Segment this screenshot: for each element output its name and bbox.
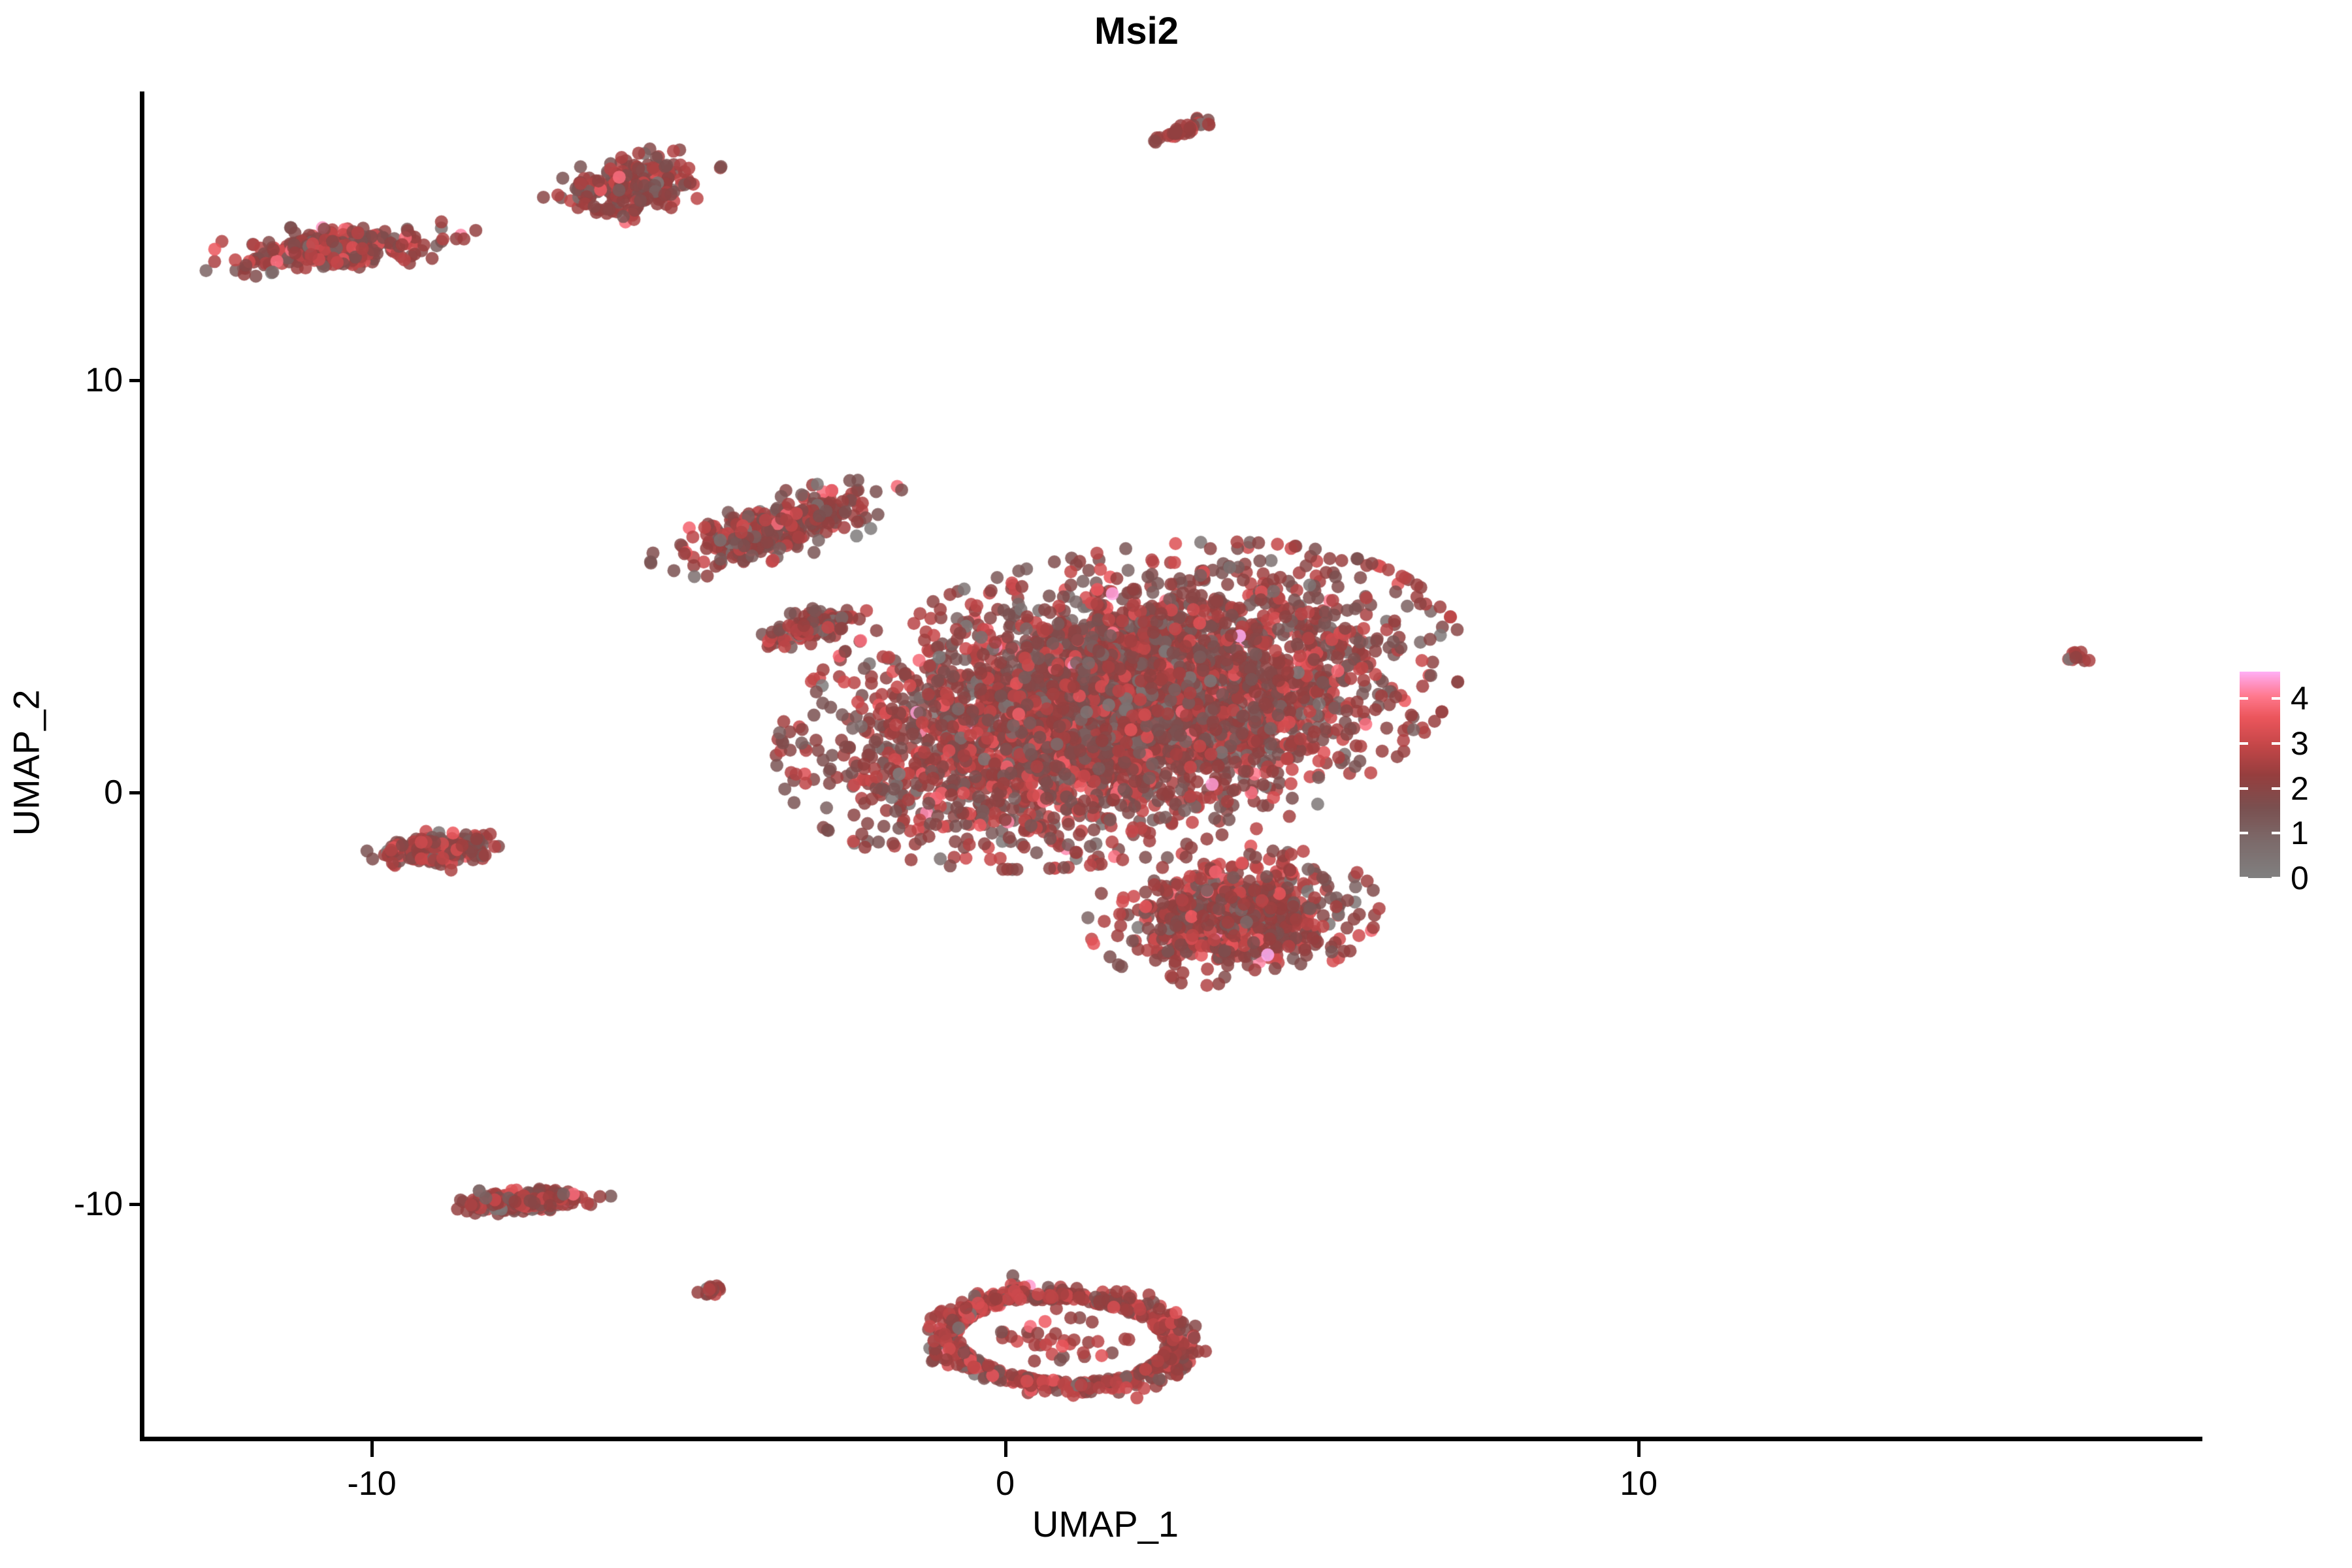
colorbar-tick-mark bbox=[2272, 787, 2280, 790]
x-tick-mark bbox=[1004, 1441, 1007, 1457]
y-tick-mark bbox=[129, 379, 144, 382]
x-tick-label: 10 bbox=[1567, 1464, 1710, 1503]
plot-root: Msi2 -10010 -10010 UMAP_1 UMAP_2 43210 bbox=[0, 0, 2352, 1568]
y-axis-title: UMAP_2 bbox=[5, 632, 48, 894]
colorbar-tick-mark bbox=[2240, 877, 2248, 879]
colorbar-tick-label: 2 bbox=[2291, 770, 2309, 808]
colorbar-tick-mark bbox=[2240, 787, 2248, 790]
page-title: Msi2 bbox=[0, 9, 1179, 53]
y-tick-label: 10 bbox=[5, 361, 123, 400]
x-axis-title: UMAP_1 bbox=[0, 1503, 1179, 1545]
x-tick-mark bbox=[1637, 1441, 1641, 1457]
plot-panel bbox=[144, 91, 2202, 1439]
colorbar-tick-mark bbox=[2272, 697, 2280, 700]
colorbar-tick-mark bbox=[2240, 832, 2248, 834]
colorbar-tick-mark bbox=[2240, 697, 2248, 700]
y-tick-label: -10 bbox=[5, 1184, 123, 1224]
y-tick-mark bbox=[129, 1203, 144, 1206]
colorbar-tick-mark bbox=[2240, 742, 2248, 745]
colorbar-tick-label: 4 bbox=[2291, 679, 2309, 717]
colorbar-tick-label: 0 bbox=[2291, 859, 2309, 897]
colorbar-tick-mark bbox=[2272, 742, 2280, 745]
colorbar-tick-label: 1 bbox=[2291, 814, 2309, 852]
x-tick-label: 0 bbox=[934, 1464, 1077, 1503]
x-tick-label: -10 bbox=[300, 1464, 444, 1503]
colorbar-gradient bbox=[2240, 672, 2280, 878]
y-tick-mark bbox=[129, 791, 144, 794]
colorbar-tick-mark bbox=[2272, 832, 2280, 834]
scatter-points-layer bbox=[144, 91, 2202, 1439]
x-tick-mark bbox=[370, 1441, 374, 1457]
colorbar-legend: 43210 bbox=[2240, 672, 2352, 881]
colorbar-tick-mark bbox=[2272, 877, 2280, 879]
colorbar-tick-label: 3 bbox=[2291, 725, 2309, 762]
scatter-canvas bbox=[144, 91, 2202, 1439]
